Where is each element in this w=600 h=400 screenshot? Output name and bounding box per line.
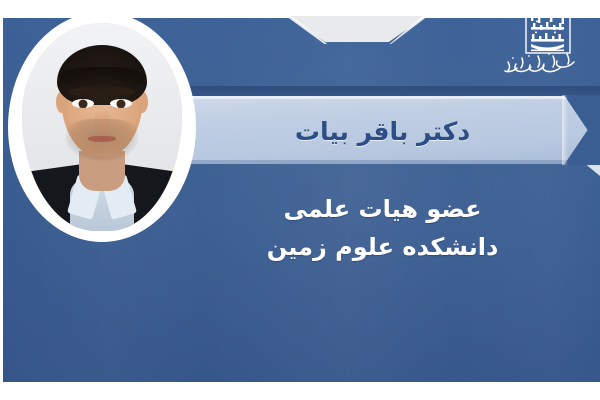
person-role-line: عضو هیات علمی (195, 190, 570, 228)
portrait-nose (95, 109, 110, 131)
portrait-photo (22, 23, 182, 231)
portrait-eye-left (72, 99, 94, 108)
person-name: دکتر باقر بیات (205, 104, 560, 158)
portrait-mouth (88, 136, 116, 142)
university-logo (486, 6, 582, 80)
person-faculty-line: دانشکده علوم زمین (195, 228, 570, 266)
portrait-eye-right (110, 99, 132, 108)
portrait-iris-left (79, 99, 88, 108)
person-title-block: عضو هیات علمی دانشکده علوم زمین (195, 190, 570, 266)
portrait-iris-right (117, 99, 126, 108)
avatar (8, 12, 196, 242)
faculty-profile-card: دکتر باقر بیات عضو هیات علمی دانشکده علو… (0, 0, 600, 400)
